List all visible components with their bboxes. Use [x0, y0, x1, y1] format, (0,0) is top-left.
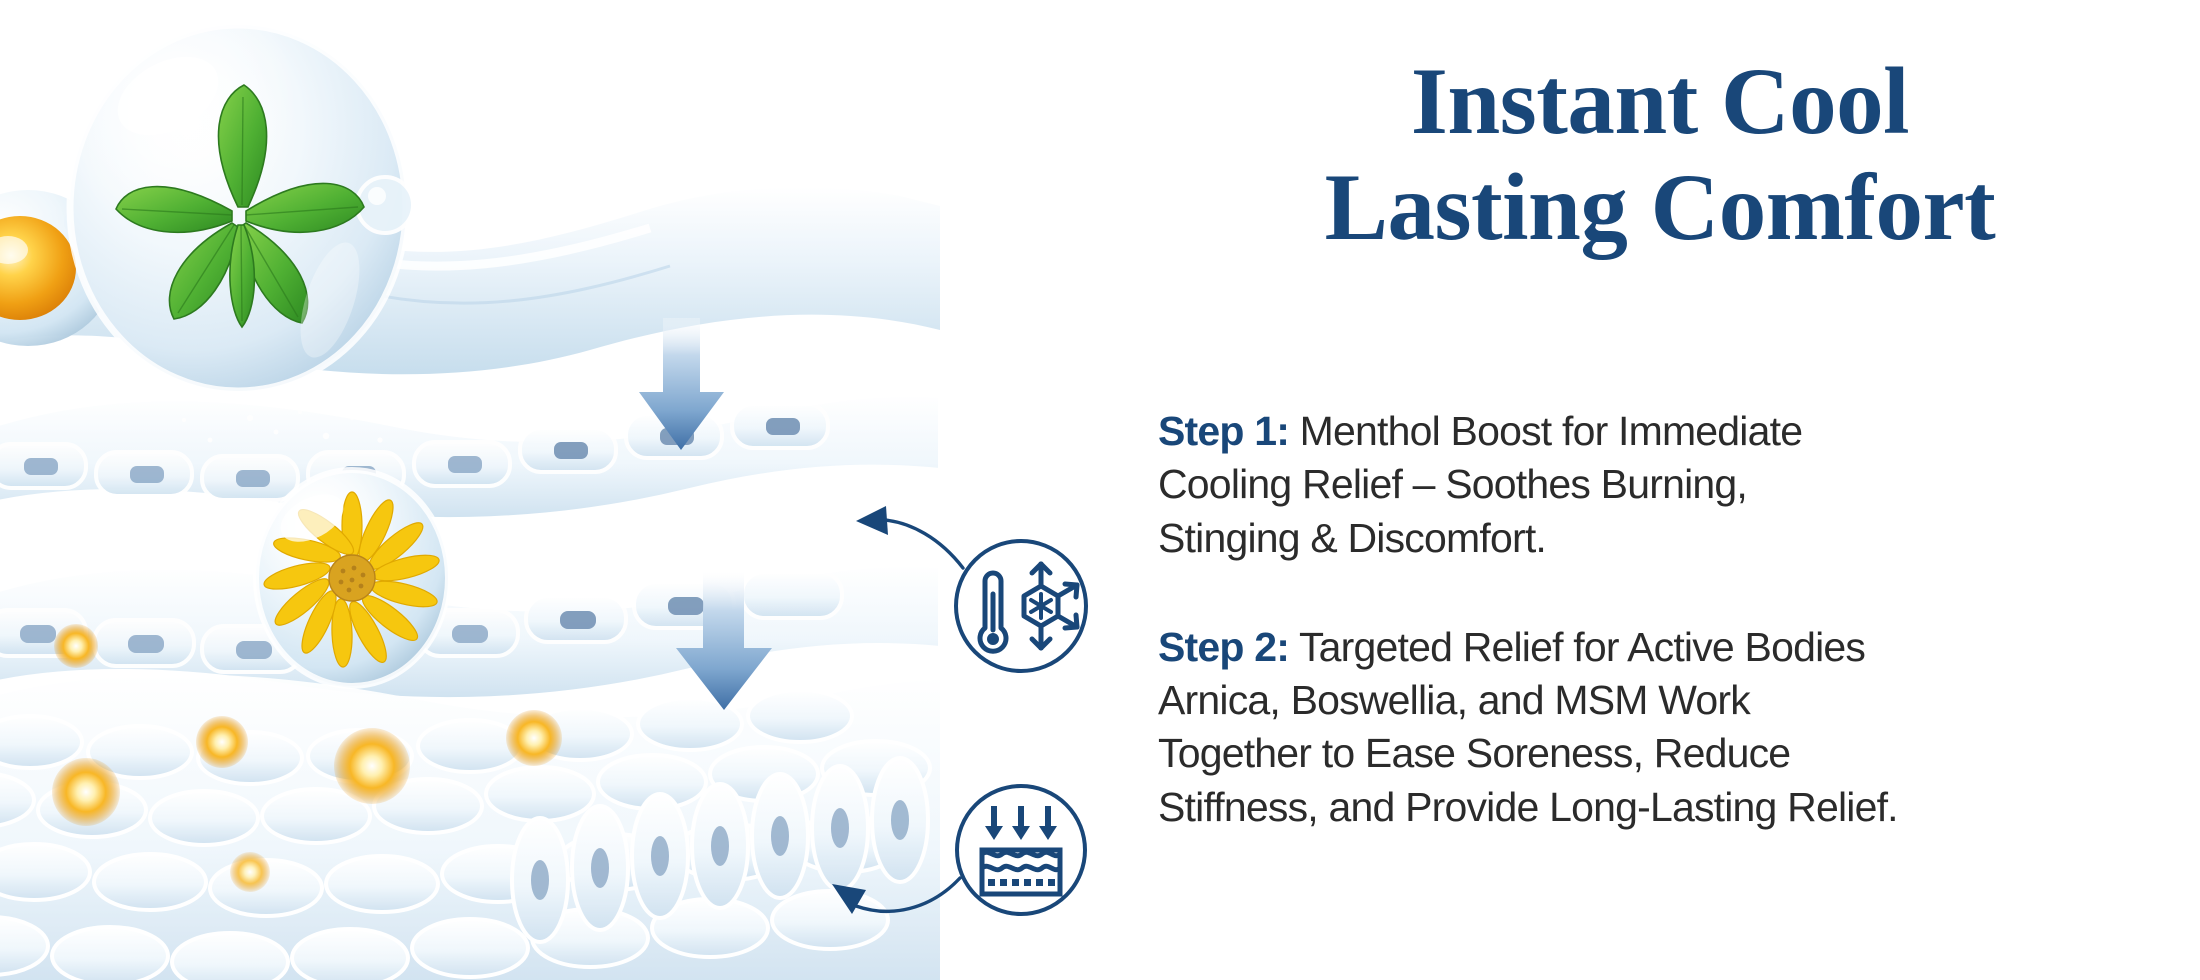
step-2-text-1: Targeted Relief for Active Bodies	[1289, 624, 1865, 670]
skin-penetration-illustration	[0, 0, 940, 980]
step-1-paragraph: Step 1: Menthol Boost for Immediate Cool…	[1158, 405, 2188, 565]
step-1-line-3: Stinging & Discomfort.	[1158, 512, 2188, 565]
step-2-line-4: Stiffness, and Provide Long-Lasting Reli…	[1158, 781, 2188, 834]
steps-list: Step 1: Menthol Boost for Immediate Cool…	[1158, 405, 2188, 834]
mint-leaf-sphere	[70, 25, 413, 391]
absorption-icon-badge[interactable]	[953, 782, 1089, 918]
step-1-line-2: Cooling Relief – Soothes Burning,	[1158, 458, 2188, 511]
skin-cell-matrix	[0, 674, 940, 980]
step-2-paragraph: Step 2: Targeted Relief for Active Bodie…	[1158, 621, 2188, 834]
product-visual	[0, 0, 940, 980]
arnica-flower-sphere	[256, 470, 448, 686]
page-title: Instant Cool Lasting Comfort	[1140, 48, 2180, 261]
text-panel: Instant Cool Lasting Comfort Step 1: Men…	[1140, 0, 2200, 980]
infographic-canvas: Instant Cool Lasting Comfort Step 1: Men…	[0, 0, 2200, 980]
cooling-icon-badge[interactable]	[953, 538, 1089, 674]
step-1-label: Step 1:	[1158, 408, 1289, 454]
skin-absorption-icon	[953, 782, 1089, 918]
thermometer-snowflake-icon	[953, 538, 1089, 674]
absorption-arrows	[985, 806, 1057, 840]
skin-cell-layer-1	[0, 395, 940, 519]
step-1-text-1: Menthol Boost for Immediate	[1289, 408, 1802, 454]
step-1-line-1: Step 1: Menthol Boost for Immediate	[1158, 405, 2188, 458]
step-2-line-3: Together to Ease Soreness, Reduce	[1158, 727, 2188, 780]
step-2-line-1: Step 2: Targeted Relief for Active Bodie…	[1158, 621, 2188, 674]
headline-line-1: Instant Cool	[1411, 48, 1909, 154]
step-2-line-2: Arnica, Boswellia, and MSM Work	[1158, 674, 2188, 727]
headline-line-2: Lasting Comfort	[1140, 154, 2180, 260]
step-2-label: Step 2:	[1158, 624, 1289, 670]
